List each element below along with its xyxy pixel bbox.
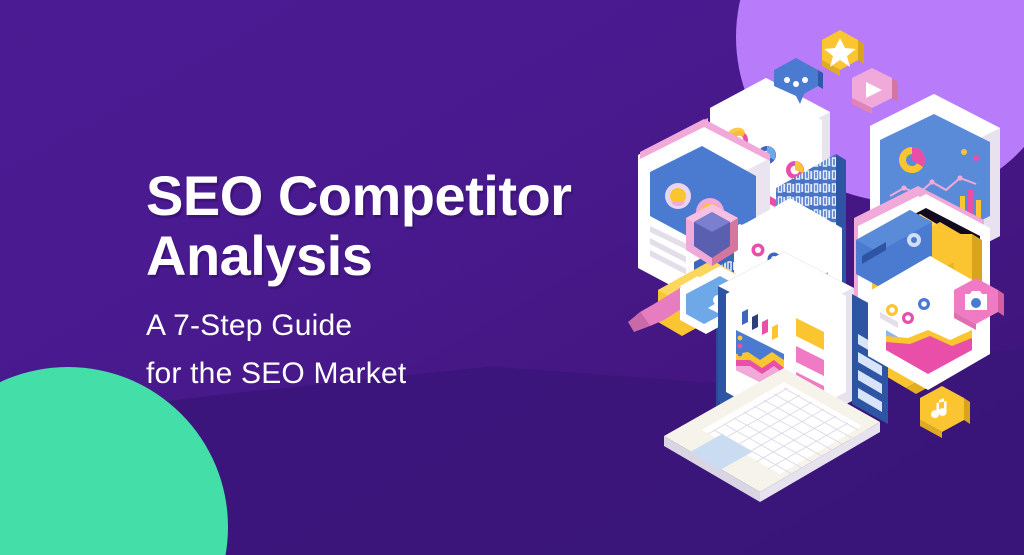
poster-canvas: SEO Competitor Analysis A 7-Step Guide f… — [0, 0, 1024, 555]
page-title: SEO Competitor Analysis — [146, 166, 686, 286]
title-line-1: SEO Competitor — [146, 164, 571, 227]
title-line-2: Analysis — [146, 224, 372, 287]
subtitle-line-2: for the SEO Market — [146, 350, 686, 398]
page-subtitle: A 7-Step Guide for the SEO Market — [146, 302, 686, 398]
star-badge-icon — [822, 30, 864, 76]
subtitle-line-1: A 7-Step Guide — [146, 302, 686, 350]
music-badge-icon — [920, 386, 970, 438]
hero-copy: SEO Competitor Analysis A 7-Step Guide f… — [146, 166, 686, 398]
play-badge-icon — [852, 68, 898, 114]
decorative-green-blob-notch — [0, 407, 68, 433]
